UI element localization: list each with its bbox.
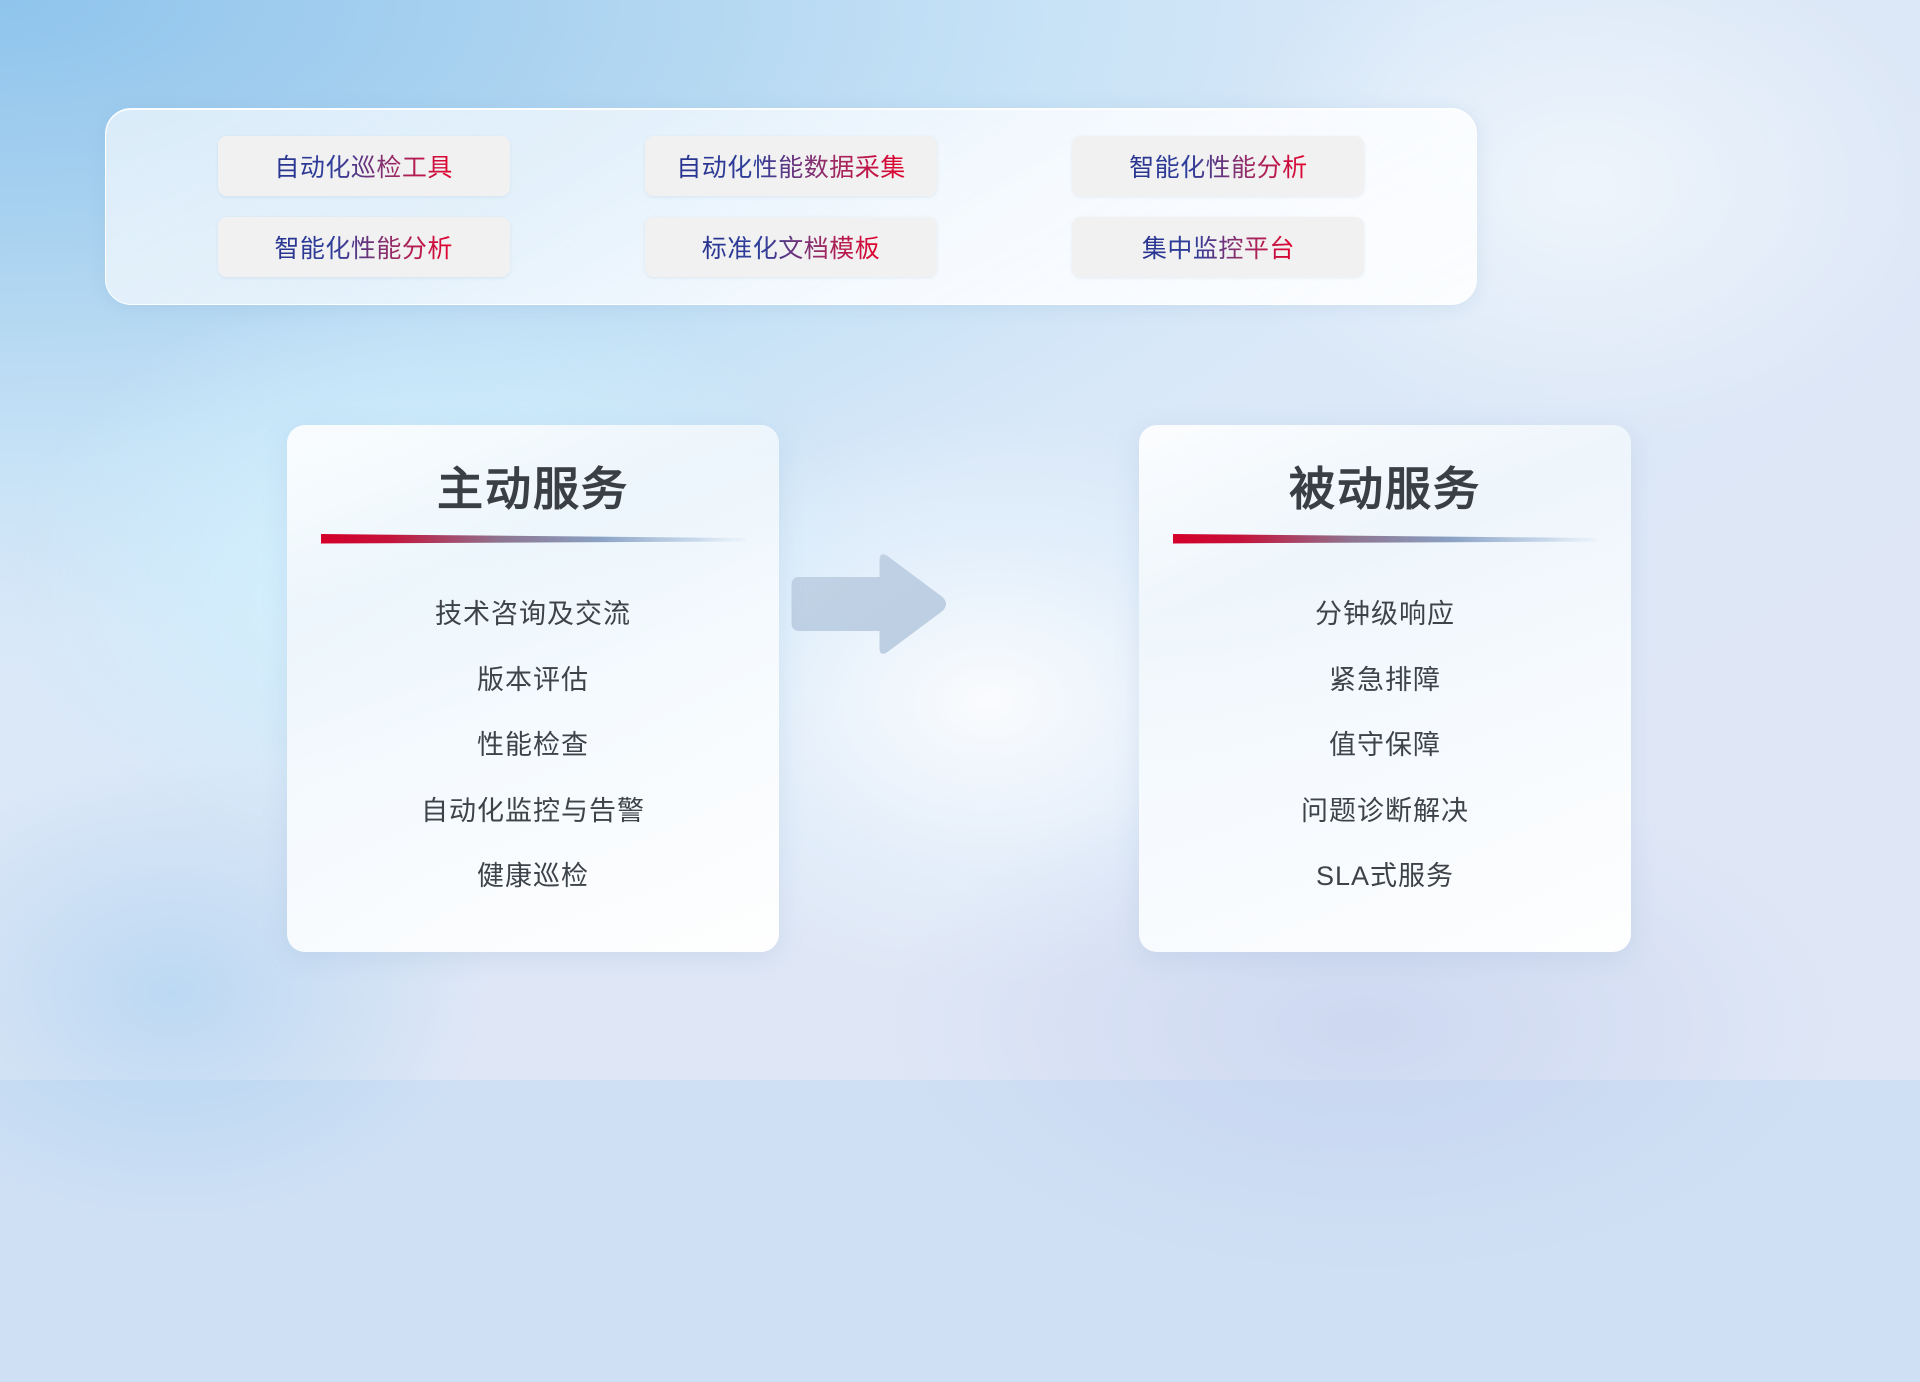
- capability-chip[interactable]: 标准化文档模板: [645, 217, 937, 277]
- card-title: 被动服务: [1139, 453, 1631, 519]
- card-divider-rule: [321, 532, 745, 545]
- chip-label: 集中监控平台: [1142, 229, 1295, 265]
- card-list-item: 技术咨询及交流: [435, 598, 631, 630]
- capability-chip[interactable]: 集中监控平台: [1072, 217, 1364, 277]
- card-list-item: 版本评估: [477, 664, 589, 696]
- card-list-item: 分钟级响应: [1315, 598, 1455, 630]
- card-list-item: SLA式服务: [1316, 860, 1454, 892]
- chip-label: 智能化性能分析: [1129, 148, 1308, 184]
- arrow-right-icon: [784, 549, 949, 659]
- service-card-reactive: 被动服务 分钟级响应 紧急排障 值守保障 问题诊断解决 SLA式服务: [1139, 425, 1631, 952]
- capability-chip[interactable]: 自动化性能数据采集: [645, 136, 937, 196]
- capability-chip[interactable]: 智能化性能分析: [1072, 136, 1364, 196]
- capability-chip[interactable]: 智能化性能分析: [218, 217, 510, 277]
- card-list-item: 紧急排障: [1329, 664, 1441, 696]
- card-title: 主动服务: [287, 453, 779, 519]
- card-item-list: 分钟级响应 紧急排障 值守保障 问题诊断解决 SLA式服务: [1139, 565, 1631, 926]
- service-card-proactive: 主动服务 技术咨询及交流 版本评估 性能检查 自动化监控与告警 健康巡检: [287, 425, 779, 952]
- card-list-item: 性能检查: [477, 729, 589, 761]
- chip-label: 自动化巡检工具: [274, 148, 453, 184]
- chip-label: 标准化文档模板: [702, 229, 881, 265]
- capability-chip-grid: 自动化巡检工具 自动化性能数据采集 智能化性能分析 智能化性能分析 标准化文档模…: [106, 109, 1476, 304]
- card-list-item: 问题诊断解决: [1301, 795, 1469, 827]
- chip-label: 智能化性能分析: [274, 229, 453, 265]
- card-list-item: 自动化监控与告警: [421, 795, 645, 827]
- card-item-list: 技术咨询及交流 版本评估 性能检查 自动化监控与告警 健康巡检: [287, 565, 779, 926]
- card-divider-rule: [1173, 532, 1597, 545]
- card-list-item: 值守保障: [1329, 729, 1441, 761]
- capability-panel: 自动化巡检工具 自动化性能数据采集 智能化性能分析 智能化性能分析 标准化文档模…: [105, 108, 1477, 305]
- card-list-item: 健康巡检: [477, 860, 589, 892]
- capability-chip[interactable]: 自动化巡检工具: [218, 136, 510, 196]
- chip-label: 自动化性能数据采集: [676, 148, 906, 184]
